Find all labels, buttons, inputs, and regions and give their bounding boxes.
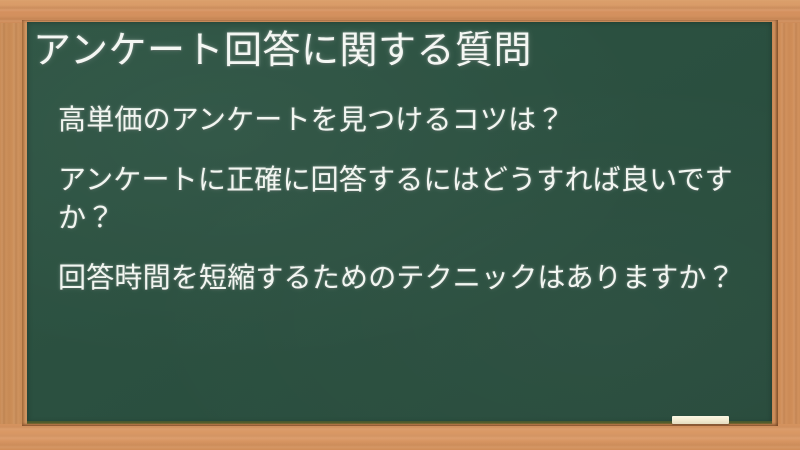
- list-item: 高単価のアンケートを見つけるコツは？: [58, 101, 746, 139]
- question-list: 高単価のアンケートを見つけるコツは？ アンケートに正確に回答するにはどうすれば良…: [58, 101, 746, 297]
- list-item: アンケートに正確に回答するにはどうすれば良いですか？: [58, 161, 746, 237]
- wooden-frame-top-rail: [0, 0, 800, 23]
- chalk-stick-icon: [672, 416, 729, 424]
- list-item: 回答時間を短縮するためのテクニックはありますか？: [58, 259, 746, 297]
- chalkboard-bottom-edge: [27, 421, 772, 424]
- page-title: アンケート回答に関する質問: [33, 26, 733, 76]
- chalkboard-slide: アンケート回答に関する質問 高単価のアンケートを見つけるコツは？ アンケートに正…: [0, 0, 800, 450]
- wooden-frame-bottom-rail: [0, 424, 800, 450]
